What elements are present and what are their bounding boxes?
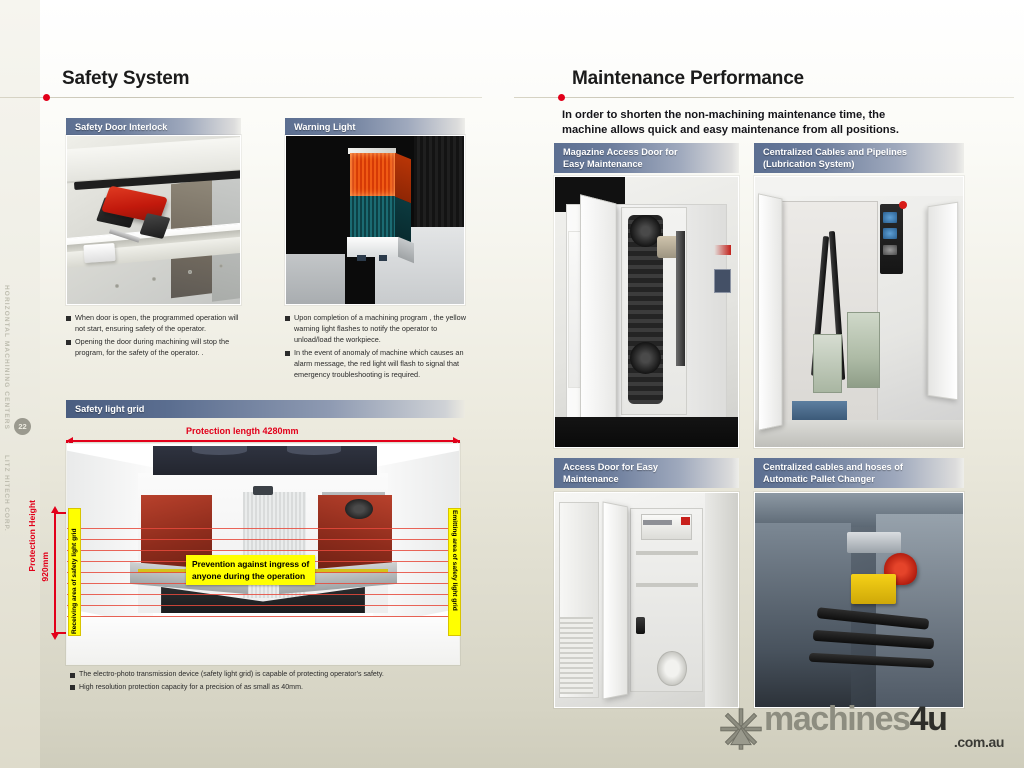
actuator-assembly [847,532,901,553]
floor-shadow [555,417,738,447]
beacon-base [347,237,399,257]
warning-label [714,245,730,256]
interior-shelf [636,583,698,587]
magazine-guide-column [676,231,685,366]
cooling-fan [657,651,686,685]
list-item: In the event of anomaly of machine which… [285,347,470,380]
maintenance-intro-paragraph: In order to shorten the non-machining ma… [562,108,1002,138]
caption-safety-door-interlock: Safety Door Interlock [66,118,241,136]
bullet-square-icon [285,316,290,321]
beacon-mount-bolt [379,255,388,261]
bullet-text: In the event of anomaly of machine which… [294,347,470,380]
light-grid-beam [67,550,459,551]
intro-line-2: machine allows quick and easy maintenanc… [562,123,1002,138]
list-item: Opening the door during machining will s… [66,336,246,358]
bullet-square-icon [66,316,71,321]
list-item: When door is open, the programmed operat… [66,312,246,334]
lubricant-reservoir [813,334,842,393]
beacon-mount-bolt [357,255,366,261]
bullets-warning-light: Upon completion of a machining program ,… [285,312,470,382]
yellow-cable-guard [851,574,897,604]
caption-line-2: (Lubrication System) [763,158,964,170]
centralized-cables-pipelines-photo [754,176,964,448]
bullets-safety-light-grid: The electro-photo transmission device (s… [70,669,490,695]
red-status-light [899,201,907,209]
label-emitting-area: Emitting area of safety light grid [448,508,461,636]
overhead-sensor [253,486,273,495]
manifold-indicator [883,212,898,223]
ventilation-grille [560,617,593,694]
asterisk-star-icon [718,706,764,752]
light-grid-beam [67,539,459,540]
light-grid-beam [67,528,459,529]
left-heading-rule [0,97,482,98]
left-heading-dot-icon [43,94,50,101]
enclosure-ceiling [153,446,376,475]
floor-band [755,420,963,447]
background-wall [414,136,464,237]
caption-safety-light-grid: Safety light grid [66,400,465,418]
emergency-stop-button [681,517,690,526]
light-grid-beam [67,605,459,606]
manifold-indicator [883,228,898,239]
beacon-orange-lens [350,153,395,197]
opened-access-door [602,501,627,699]
machine-front-panel [67,616,459,664]
door-lock-handle [636,617,645,634]
spine-corp-label: LITZ HITECH CORP. [3,455,10,595]
caption-warning-light: Warning Light [285,118,465,136]
dim-label-protection-height: Protection Height [27,500,37,572]
watermark-brand-dark: 4u [910,700,947,738]
watermark-brand-light: machines [764,700,910,738]
blue-machine-base [792,401,846,420]
manifold-indicator [883,245,898,256]
interlock-bracket [84,242,116,263]
magazine-access-door-photo [554,176,739,448]
bullet-text: The electro-photo transmission device (s… [79,669,384,680]
watermark-domain: .com.au [954,734,1004,750]
ceiling-light-left [192,446,247,455]
dim-arrow-down-icon [51,633,59,640]
light-grid-beam [67,616,459,617]
bullet-square-icon [70,685,75,690]
interior-shelf [636,551,698,555]
light-grid-beam [67,594,459,595]
caption-line-1: Centralized Cables and Pipelines [763,146,964,158]
caption-line-2: Easy Maintenance [563,158,739,170]
beacon-orange-lens-side [395,153,411,203]
safety-light-grid-diagram [66,443,460,665]
opened-access-door [580,194,616,430]
magazine-sprocket-top [630,215,661,247]
right-heading-dot-icon [558,94,565,101]
bullet-square-icon [66,340,71,345]
apc-cables-hoses-photo [754,492,964,708]
bullet-text: When door is open, the programmed operat… [75,312,246,334]
access-door-easy-maintenance-photo [554,492,739,708]
dim-label-protection-length: Protection length 4280mm [186,426,299,436]
control-unit-keypad [643,520,672,525]
caption-line-1: Magazine Access Door for [563,146,739,158]
ceiling-band [755,177,963,196]
bullet-text: High resolution protection capacity for … [79,682,303,693]
magazine-sprocket-bottom [630,342,661,374]
opened-left-door [758,193,782,431]
caption-line-2: Maintenance [563,473,739,485]
machine-surface-left [286,254,345,304]
warning-light-photo [285,135,465,305]
caption-line-1: Access Door for Easy [563,461,739,473]
bullet-square-icon [70,673,75,678]
caption-apc-cables-hoses: Centralized cables and hoses of Automati… [754,458,964,488]
control-plate [714,269,730,293]
dim-line-vertical [54,512,56,634]
list-item: The electro-photo transmission device (s… [70,669,490,680]
machines4u-watermark: machines4u .com.au [718,700,1010,756]
page-number-badge: 22 [14,418,31,435]
rail-bolt-hole [152,277,156,281]
right-heading-rule [514,97,1014,98]
watermark-brand: machines4u [764,702,947,736]
bullet-text: Opening the door during machining will s… [75,336,246,358]
page-spine: HORIZONTAL MACHINING CENTERS 22 LITZ HIT… [0,0,40,768]
right-heading-text: Maintenance Performance [572,68,804,90]
opened-right-door [927,202,958,401]
rail-bolt-hole [115,284,119,288]
ceiling-light-right [287,446,342,455]
bullet-text: Upon completion of a machining program ,… [294,312,470,345]
caption-magazine-access-door: Magazine Access Door for Easy Maintenanc… [554,143,739,173]
list-item: Upon completion of a machining program ,… [285,312,470,345]
beacon-teal-lens [350,196,395,238]
caption-access-door-easy-maintenance: Access Door for Easy Maintenance [554,458,739,488]
caption-line-1: Centralized cables and hoses of [763,461,964,473]
label-receiving-area: Receiving area of safety light grid [68,508,81,636]
rail-bolt-hole [219,264,223,268]
callout-line-2: anyone during the operation [192,570,309,582]
lubricant-tank [847,312,880,388]
caption-line-2: Automatic Pallet Changer [763,473,964,485]
left-heading-text: Safety System [62,68,189,90]
dim-line-horizontal [66,440,460,442]
safety-door-interlock-photo [66,135,241,305]
spindle-bore [345,499,372,519]
dim-label-protection-height-value: 920mm [40,552,50,582]
bullets-safety-door-interlock: When door is open, the programmed operat… [66,312,246,360]
callout-prevention-ingress: Prevention against ingress of anyone dur… [186,555,315,585]
list-item: High resolution protection capacity for … [70,682,490,693]
adjacent-cabinet [705,493,738,707]
caption-centralized-cables-pipelines: Centralized Cables and Pipelines (Lubric… [754,143,964,173]
callout-line-1: Prevention against ingress of [192,558,309,570]
bullet-square-icon [285,351,290,356]
intro-line-1: In order to shorten the non-machining ma… [562,108,1002,123]
